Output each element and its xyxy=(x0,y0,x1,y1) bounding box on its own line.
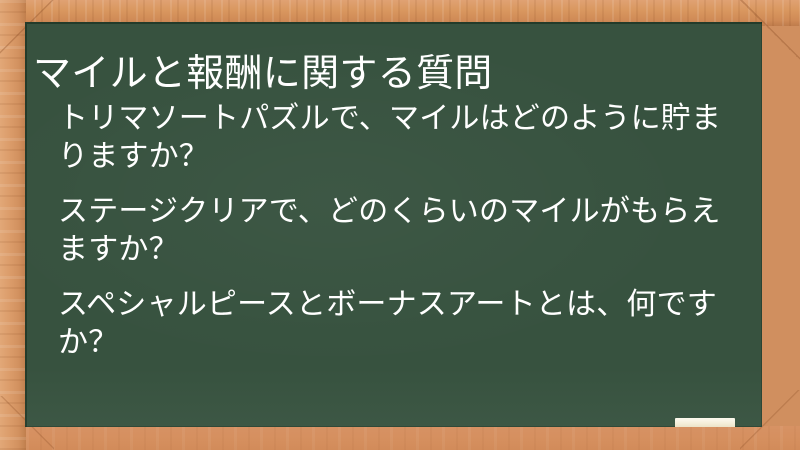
chalkboard-surface: マイルと報酬に関する質問 トリマソートパズルで、マイルはどのように貯まりますか？… xyxy=(25,22,762,427)
question-item-2: ステージクリアで、どのくらいのマイルがもらえますか？ xyxy=(58,193,736,269)
chalkboard-content: マイルと報酬に関する質問 トリマソートパズルで、マイルはどのように貯まりますか？… xyxy=(25,22,762,427)
question-item-3: スペシャルピースとボーナスアートとは、何ですか？ xyxy=(58,286,736,362)
question-list: トリマソートパズルで、マイルはどのように貯まりますか？ ステージクリアで、どのく… xyxy=(58,100,736,379)
frame-plank-left xyxy=(0,0,26,450)
frame-plank-bottom xyxy=(0,426,800,450)
chalkboard-slide: マイルと報酬に関する質問 トリマソートパズルで、マイルはどのように貯まりますか？… xyxy=(0,0,800,450)
slide-title: マイルと報酬に関する質問 xyxy=(33,49,742,97)
chalk-piece xyxy=(675,418,735,427)
frame-plank-right xyxy=(762,0,800,450)
question-item-1: トリマソートパズルで、マイルはどのように貯まりますか？ xyxy=(58,100,736,176)
